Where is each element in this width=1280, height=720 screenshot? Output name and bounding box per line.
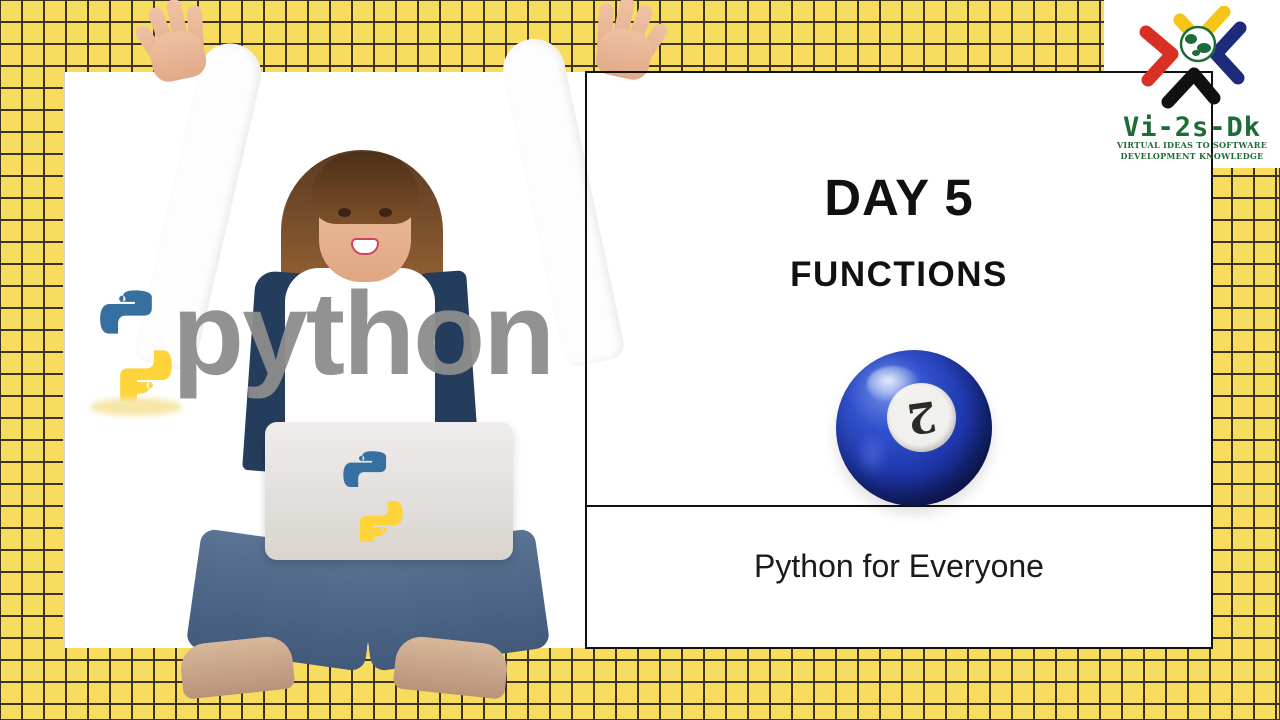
slide-canvas: python DAY 5 FUNCTIONS 2 Python for Ever… [0, 0, 1280, 720]
left-eye [338, 208, 351, 217]
python-logo-laptop-icon [325, 446, 421, 542]
left-hand [133, 0, 215, 86]
laptop [265, 422, 513, 560]
brand-tagline-line1: VIRTUAL IDEAS TO SOFTWARE [1104, 140, 1280, 150]
hair-fringe [311, 152, 419, 224]
day-title: DAY 5 [585, 168, 1213, 227]
ball-secondary-highlight [855, 431, 889, 478]
python-wordmark: python [172, 275, 553, 393]
left-panel-border [63, 72, 65, 648]
brand-tagline-line2: DEVELOPMENT KNOWLEDGE [1104, 151, 1280, 161]
ball-highlight [867, 366, 920, 403]
right-eye [379, 208, 392, 217]
right-panel-top-border [585, 71, 1213, 73]
tagline: Python for Everyone [585, 548, 1213, 585]
topic-title: FUNCTIONS [585, 255, 1213, 295]
python-logo-icon [78, 282, 194, 402]
right-panel-bottom-border [585, 647, 1213, 649]
billiard-ball: 2 [836, 350, 992, 506]
ball-number-text: 2 [904, 394, 939, 440]
brand-name: Vi-2s-Dk [1104, 112, 1280, 143]
brand-arrows-icon [1128, 6, 1254, 118]
python-logo-shadow [90, 398, 182, 416]
python-logo-watermark [78, 282, 194, 402]
